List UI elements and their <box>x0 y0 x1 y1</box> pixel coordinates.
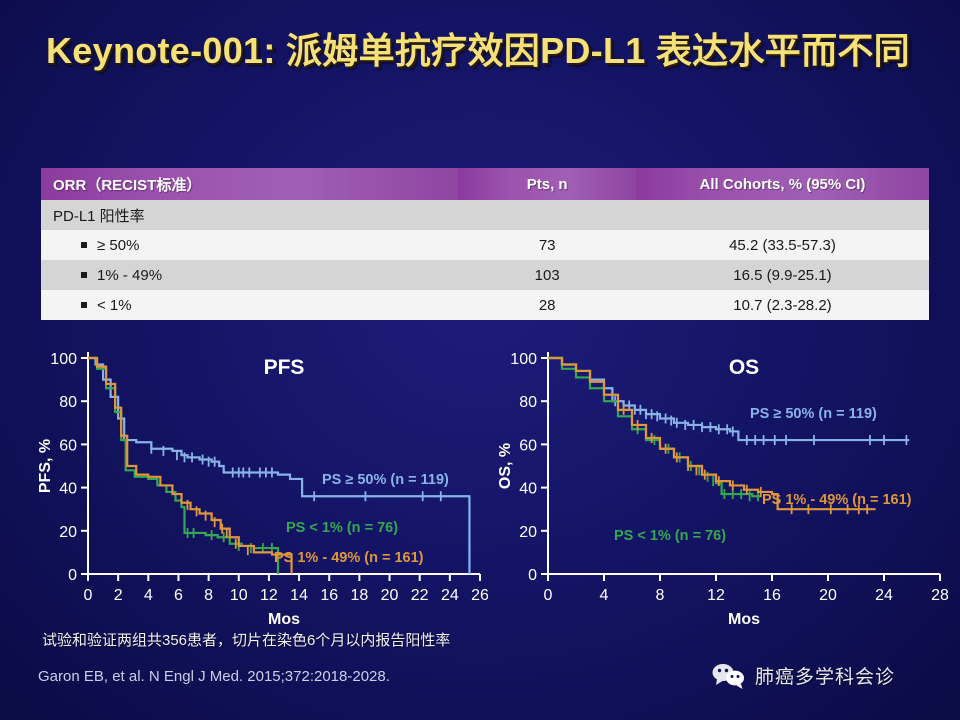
pfs-chart-svg: 02040608010002468101214161820222426PFSMo… <box>36 336 488 626</box>
bullet-icon <box>81 242 87 248</box>
row-cohorts: 10.7 (2.3-28.2) <box>636 290 929 320</box>
slide-title: Keynote-001: 派姆单抗疗效因PD-L1 表达水平而不同 <box>46 28 926 74</box>
col-header-orr: ORR（RECIST标准） <box>41 168 458 200</box>
svg-text:18: 18 <box>350 587 368 604</box>
svg-text:60: 60 <box>59 437 77 454</box>
svg-text:PS 1% - 49% (n = 161): PS 1% - 49% (n = 161) <box>762 492 912 508</box>
bullet-icon <box>81 272 87 278</box>
svg-text:20: 20 <box>819 587 837 604</box>
svg-text:24: 24 <box>441 587 459 604</box>
svg-text:10: 10 <box>230 587 248 604</box>
bullet-icon <box>81 302 87 308</box>
table-row: ≥ 50% 73 45.2 (33.5-57.3) <box>41 230 929 260</box>
citation-text: Garon EB, et al. N Engl J Med. 2015;372:… <box>38 668 390 685</box>
table-body: PD-L1 阳性率 ≥ 50% 73 45.2 (33.5-57.3) 1% -… <box>41 200 929 320</box>
svg-text:0: 0 <box>84 587 93 604</box>
svg-text:PFS, %: PFS, % <box>37 439 54 493</box>
svg-text:16: 16 <box>320 587 338 604</box>
row-cohorts: 45.2 (33.5-57.3) <box>636 230 929 260</box>
svg-text:16: 16 <box>763 587 781 604</box>
table-header-row: ORR（RECIST标准） Pts, n All Cohorts, % (95%… <box>41 168 929 200</box>
svg-text:0: 0 <box>528 567 537 584</box>
row-pts: 28 <box>458 290 636 320</box>
svg-text:8: 8 <box>656 587 665 604</box>
col-header-cohorts: All Cohorts, % (95% CI) <box>636 168 929 200</box>
svg-text:14: 14 <box>290 587 308 604</box>
os-chart-svg: 0204060801000481216202428OSMosOS, %PS ≥ … <box>496 336 948 626</box>
row-cohorts <box>636 200 929 230</box>
svg-text:28: 28 <box>931 587 948 604</box>
table-header: ORR（RECIST标准） Pts, n All Cohorts, % (95%… <box>41 168 929 200</box>
row-label: ≥ 50% <box>97 237 139 254</box>
svg-text:4: 4 <box>600 587 609 604</box>
svg-text:80: 80 <box>59 394 77 411</box>
os-kaplan-meier-chart: 0204060801000481216202428OSMosOS, %PS ≥ … <box>496 336 948 626</box>
svg-text:40: 40 <box>59 481 77 498</box>
row-pts: 73 <box>458 230 636 260</box>
svg-text:100: 100 <box>510 351 537 368</box>
svg-text:0: 0 <box>544 587 553 604</box>
svg-text:20: 20 <box>381 587 399 604</box>
svg-text:80: 80 <box>519 394 537 411</box>
row-label: PD-L1 阳性率 <box>41 200 458 230</box>
orr-results-table: ORR（RECIST标准） Pts, n All Cohorts, % (95%… <box>41 168 929 320</box>
badge-label: 肺癌多学科会诊 <box>755 662 895 689</box>
svg-text:20: 20 <box>519 524 537 541</box>
svg-text:24: 24 <box>875 587 893 604</box>
svg-text:20: 20 <box>59 524 77 541</box>
col-header-pts: Pts, n <box>458 168 636 200</box>
svg-text:2: 2 <box>114 587 123 604</box>
svg-text:0: 0 <box>68 567 77 584</box>
svg-text:40: 40 <box>519 481 537 498</box>
svg-text:PFS: PFS <box>264 356 305 379</box>
svg-text:PS ≥ 50% (n = 119): PS ≥ 50% (n = 119) <box>750 406 877 422</box>
row-label-cell: < 1% <box>41 290 458 320</box>
svg-text:Mos: Mos <box>268 611 300 626</box>
table-row: PD-L1 阳性率 <box>41 200 929 230</box>
table-row: 1% - 49% 103 16.5 (9.9-25.1) <box>41 260 929 290</box>
wechat-badge: 肺癌多学科会诊 <box>712 662 895 689</box>
svg-text:Mos: Mos <box>728 611 760 626</box>
svg-text:60: 60 <box>519 437 537 454</box>
row-label-cell: ≥ 50% <box>41 230 458 260</box>
row-label-cell: 1% - 49% <box>41 260 458 290</box>
svg-text:12: 12 <box>260 587 278 604</box>
orr-table: ORR（RECIST标准） Pts, n All Cohorts, % (95%… <box>41 168 929 320</box>
svg-text:PS 1% - 49% (n = 161): PS 1% - 49% (n = 161) <box>274 550 424 566</box>
svg-text:PS ≥ 50% (n = 119): PS ≥ 50% (n = 119) <box>322 472 449 488</box>
svg-text:8: 8 <box>204 587 213 604</box>
svg-text:26: 26 <box>471 587 488 604</box>
pfs-kaplan-meier-chart: 02040608010002468101214161820222426PFSMo… <box>36 336 488 626</box>
wechat-icon <box>712 663 746 689</box>
svg-text:PS < 1% (n = 76): PS < 1% (n = 76) <box>286 520 398 536</box>
row-pts: 103 <box>458 260 636 290</box>
svg-text:22: 22 <box>411 587 429 604</box>
svg-text:OS, %: OS, % <box>497 443 514 489</box>
svg-text:100: 100 <box>50 351 77 368</box>
svg-text:PS < 1% (n = 76): PS < 1% (n = 76) <box>614 528 726 544</box>
svg-text:4: 4 <box>144 587 153 604</box>
svg-text:12: 12 <box>707 587 725 604</box>
svg-text:6: 6 <box>174 587 183 604</box>
row-label: < 1% <box>97 297 132 314</box>
study-footnote: 试验和验证两组共356患者，切片在染色6个月以内报告阳性率 <box>42 629 450 650</box>
table-row: < 1% 28 10.7 (2.3-28.2) <box>41 290 929 320</box>
row-pts <box>458 200 636 230</box>
row-cohorts: 16.5 (9.9-25.1) <box>636 260 929 290</box>
row-label: 1% - 49% <box>97 267 162 284</box>
svg-text:OS: OS <box>729 356 759 379</box>
